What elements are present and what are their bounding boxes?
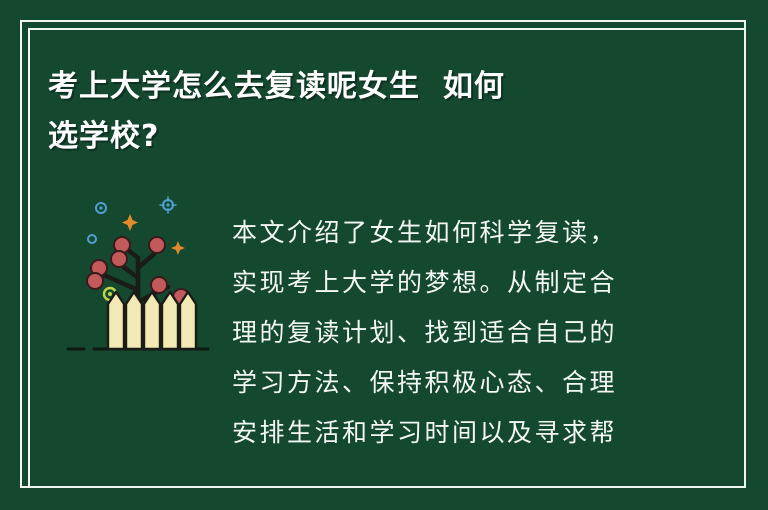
body-line-3: 理的复读计划、找到适合自己的: [232, 308, 652, 358]
article-summary: 本文介绍了女生如何科学复读， 实现考上大学的梦想。从制定合 理的复读计划、找到适…: [232, 208, 652, 458]
sparkle-blue-1: [96, 203, 106, 213]
sparkle-blue-2: [160, 197, 176, 213]
picket-fence: [108, 292, 196, 349]
body-line-1: 本文介绍了女生如何科学复读，: [232, 208, 652, 258]
frame-mask-right: [754, 0, 768, 510]
berry-tree-illustration: [62, 192, 214, 364]
sparkle-blue-3: [88, 235, 96, 243]
sparkle-orange-2: [171, 241, 185, 255]
page-title: 考上大学怎么去复读呢女生 如何 选学校?: [48, 62, 648, 162]
title-line-1: 考上大学怎么去复读呢女生 如何: [48, 62, 648, 112]
sparkle-orange-1: [122, 214, 138, 231]
body-line-2: 实现考上大学的梦想。从制定合: [232, 258, 652, 308]
poster-canvas: 考上大学怎么去复读呢女生 如何 选学校?: [0, 0, 768, 510]
body-line-4: 学习方法、保持积极心态、合理: [232, 358, 652, 408]
title-line-2: 选学校?: [48, 112, 648, 162]
body-line-5: 安排生活和学习时间以及寻求帮: [232, 408, 652, 458]
frame-mask-bottom: [0, 496, 768, 510]
